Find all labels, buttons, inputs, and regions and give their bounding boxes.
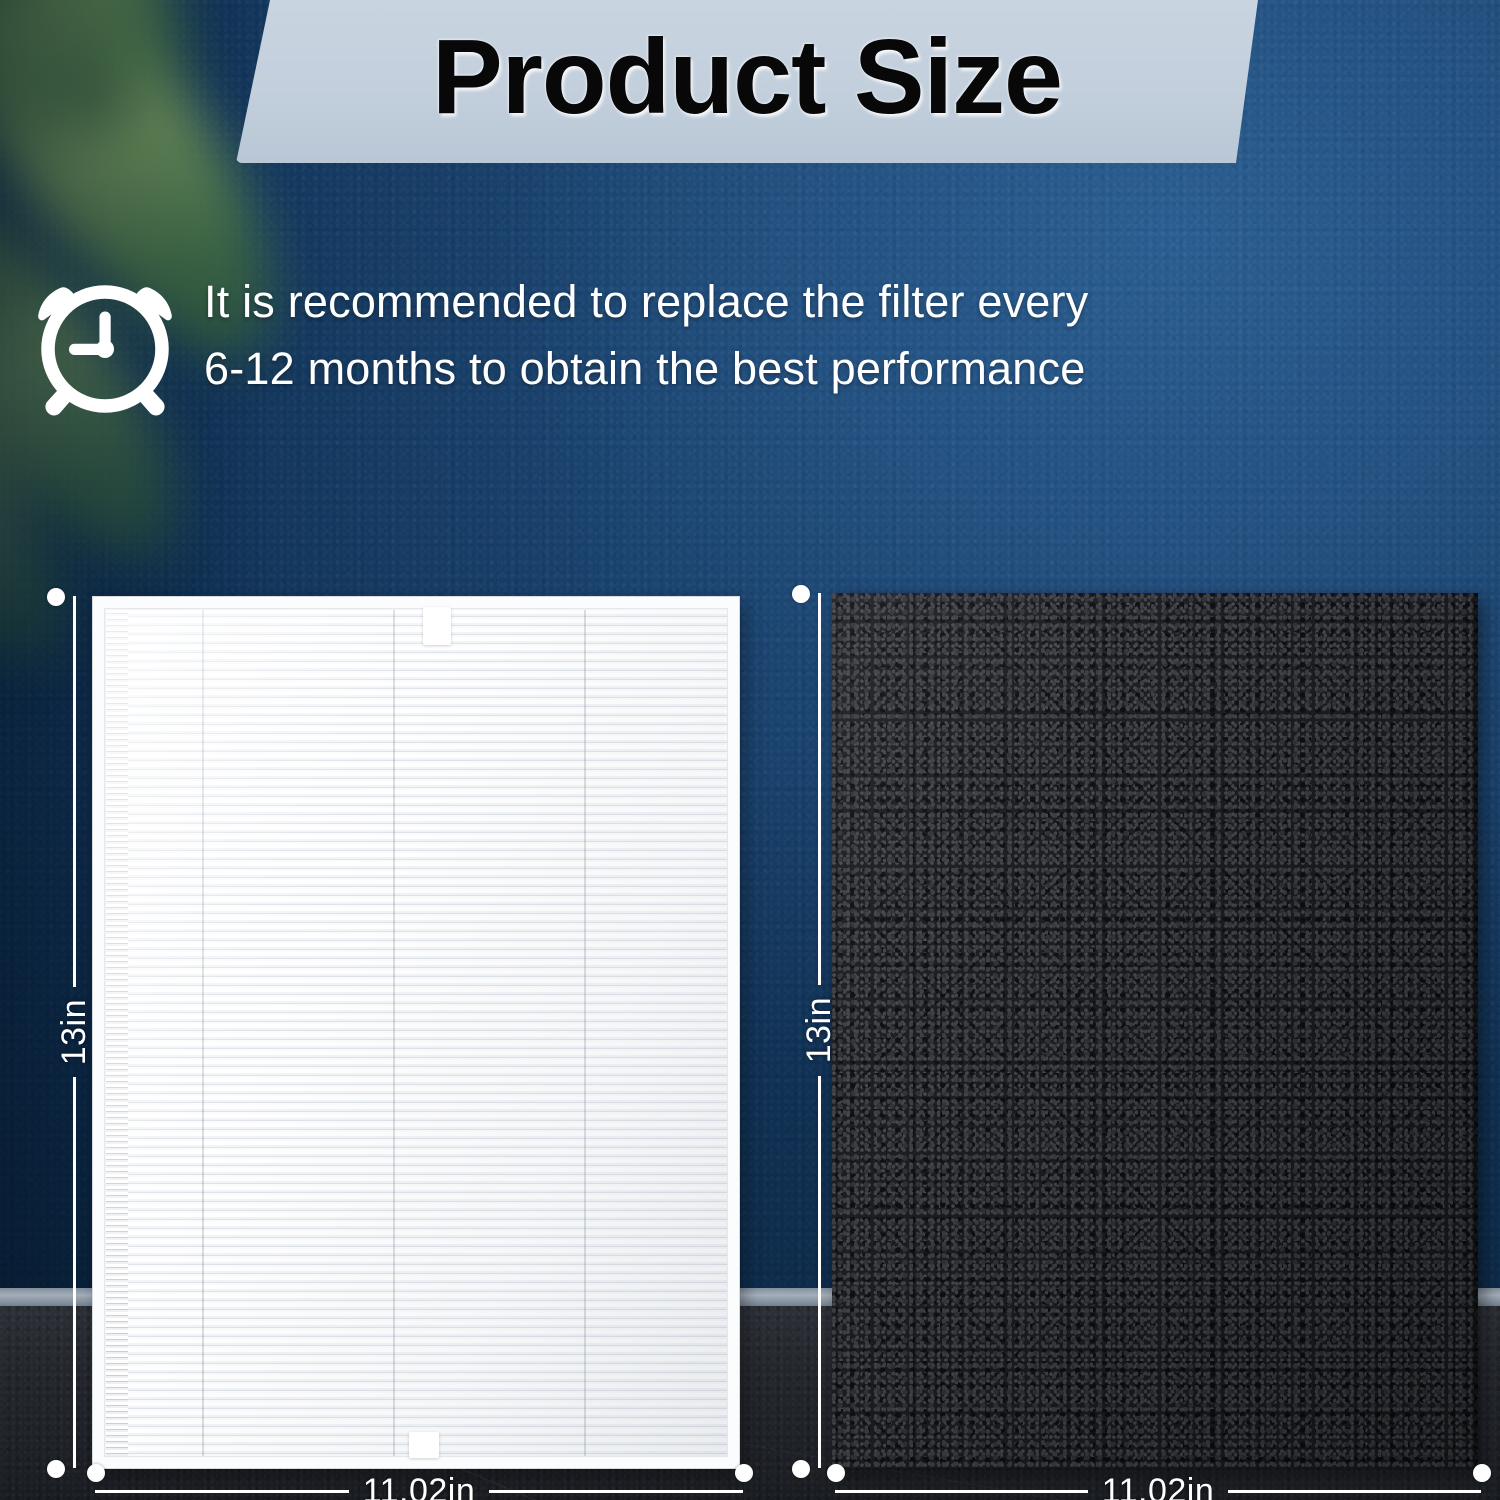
hepa-height-dimension: 13in: [55, 596, 94, 1468]
carbon-height-label: 13in: [800, 985, 839, 1075]
carbon-height-dot-top: [792, 585, 810, 603]
hepa-width-dot-left: [87, 1464, 105, 1482]
carbon-right-edge: [1470, 593, 1478, 1468]
hepa-height-label: 13in: [55, 987, 94, 1077]
carbon-width-dot-left: [827, 1464, 845, 1482]
page-title: Product Size: [236, 0, 1258, 163]
recommendation-note: It is recommended to replace the filter …: [30, 262, 1480, 442]
carbon-width-dimension: 11.02in: [835, 1472, 1481, 1500]
hepa-filter: [92, 596, 740, 1469]
recommendation-text: It is recommended to replace the filter …: [204, 262, 1088, 402]
hepa-pull-tab-top: [423, 607, 451, 645]
carbon-width-label: 11.02in: [1088, 1472, 1229, 1500]
hepa-width-label: 11.02in: [349, 1472, 490, 1500]
hepa-frame: [93, 597, 739, 1468]
hepa-pull-tab-bottom: [409, 1432, 439, 1458]
carbon-filter: [832, 593, 1478, 1468]
hepa-width-dot-right: [735, 1464, 753, 1482]
product-size-scene: Product Size It is recommended: [0, 0, 1500, 1500]
hepa-height-dot-top: [47, 588, 65, 606]
carbon-width-dot-right: [1473, 1464, 1491, 1482]
hepa-height-dot-bottom: [47, 1460, 65, 1478]
carbon-height-dot-bottom: [792, 1460, 810, 1478]
alarm-clock-icon: [30, 267, 180, 422]
hepa-width-dimension: 11.02in: [95, 1472, 743, 1500]
carbon-sheen: [832, 593, 1478, 1468]
carbon-height-dimension: 13in: [800, 593, 839, 1468]
